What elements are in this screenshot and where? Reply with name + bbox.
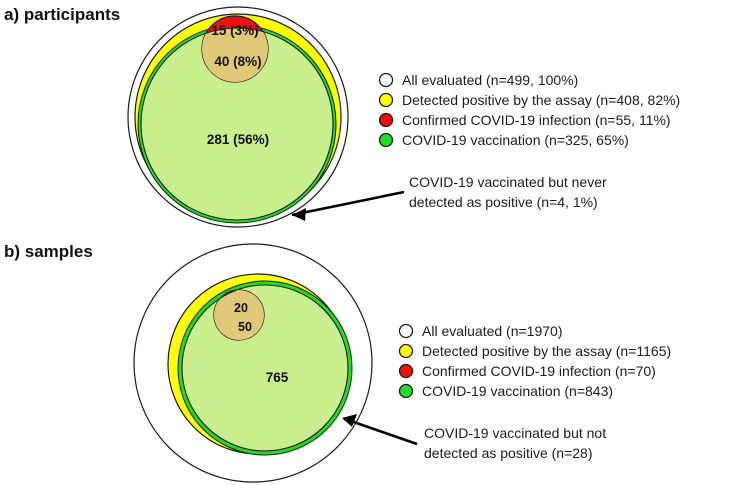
legend-marker-all-evaluated-samples <box>400 325 413 338</box>
panel-b: b) samples 20 50 765 All evaluated (n=19… <box>4 242 671 482</box>
legend-marker-detected-positive-samples <box>400 345 413 358</box>
legend-marker-detected-positive <box>380 94 393 107</box>
panel-a-label-green-main: 281 (56%) <box>207 132 269 147</box>
legend-label-confirmed-infection: Confirmed COVID-19 infection (n=55, 11%) <box>402 112 671 128</box>
legend-label-vaccination-samples: COVID-19 vaccination (n=843) <box>422 383 613 399</box>
panel-b-annotation-line2: detected as positive (n=28) <box>424 445 593 461</box>
panel-a-annotation-line2: detected as positive (n=4, 1%) <box>409 194 598 210</box>
panel-b-label-red-only: 20 <box>234 301 248 315</box>
legend-label-confirmed-infection-samples: Confirmed COVID-19 infection (n=70) <box>422 363 656 379</box>
panel-b-annotation-line1: COVID-19 vaccinated but not <box>424 425 606 441</box>
panel-a-label-overlap: 40 (8%) <box>214 54 261 69</box>
panel-a-title: a) participants <box>4 5 120 24</box>
euler-diagram-figure: a) participants 15 (3%) 40 (8%) 281 (56%… <box>0 0 751 485</box>
panel-b-label-green-main: 765 <box>266 370 289 385</box>
panel-a-annotation-line1: COVID-19 vaccinated but never <box>409 174 607 190</box>
panel-b-annotation: COVID-19 vaccinated but not detected as … <box>342 414 606 461</box>
legend-label-vaccination: COVID-19 vaccination (n=325, 65%) <box>402 132 629 148</box>
legend-label-all-evaluated-samples: All evaluated (n=1970) <box>422 323 563 339</box>
legend-marker-all-evaluated <box>380 74 393 87</box>
panel-b-region-vaccinated-detected <box>182 285 348 451</box>
legend-marker-vaccination-samples <box>400 385 413 398</box>
panel-b-title: b) samples <box>4 242 93 261</box>
panel-a-legend: All evaluated (n=499, 100%) Detected pos… <box>380 72 681 148</box>
panel-b-annotation-arrow-line <box>348 420 417 444</box>
panel-a-annotation: COVID-19 vaccinated but never detected a… <box>292 174 607 221</box>
legend-label-detected-positive: Detected positive by the assay (n=408, 8… <box>402 92 680 108</box>
legend-marker-confirmed-infection-samples <box>400 365 413 378</box>
panel-b-label-overlap: 50 <box>238 320 252 334</box>
legend-label-detected-positive-samples: Detected positive by the assay (n=1165) <box>422 343 671 359</box>
panel-a-label-red-only: 15 (3%) <box>211 23 258 38</box>
legend-marker-confirmed-infection <box>380 114 393 127</box>
legend-marker-vaccination <box>380 134 393 147</box>
panel-a: a) participants 15 (3%) 40 (8%) 281 (56%… <box>4 5 680 227</box>
panel-b-legend: All evaluated (n=1970) Detected positive… <box>400 323 672 399</box>
legend-label-all-evaluated: All evaluated (n=499, 100%) <box>402 72 578 88</box>
